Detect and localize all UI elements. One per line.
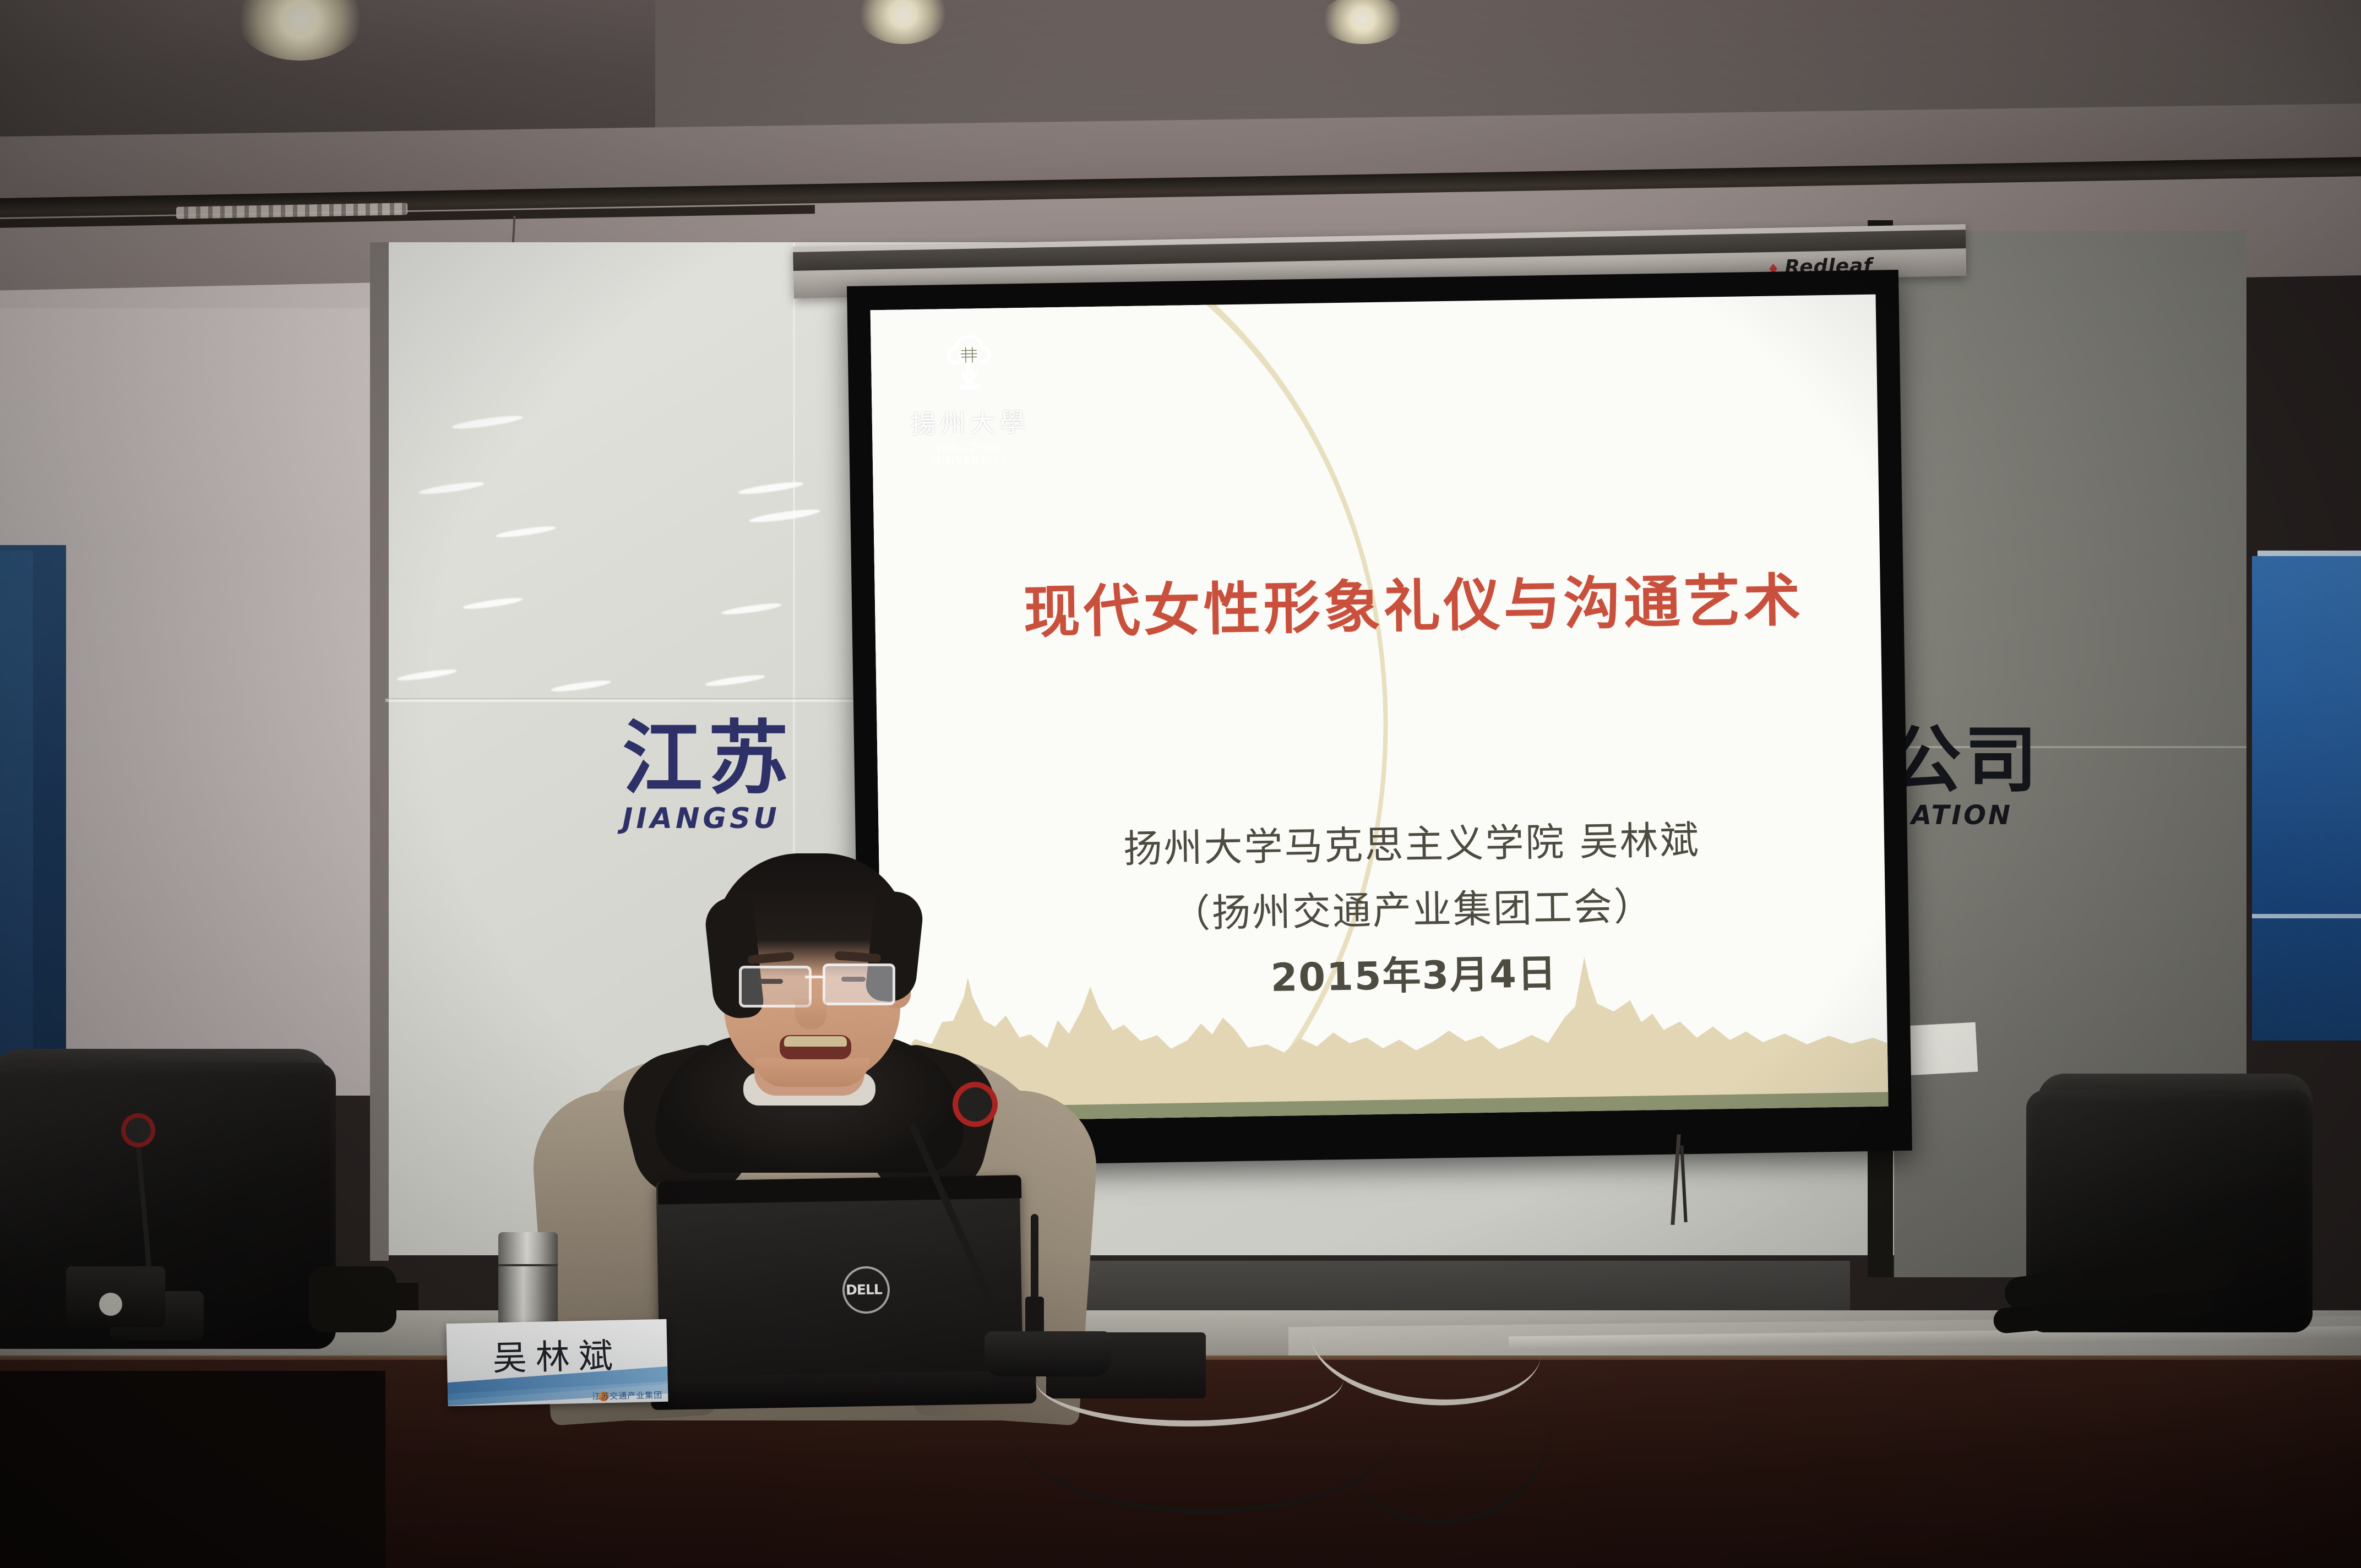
wall-logo-jiangsu: 江苏 JIANGSU	[622, 718, 794, 835]
thermos-lid	[498, 1232, 558, 1265]
slide-logo-cn: 揚州大學	[898, 402, 1042, 440]
person-teeth	[784, 1036, 847, 1047]
laptop	[656, 1175, 1024, 1396]
microphone-left-head-icon	[126, 1118, 151, 1143]
wall-logo-corporation: 公司 RATION	[1889, 724, 2041, 831]
nameplate-corp-label: 江苏交通产业集团	[592, 1389, 662, 1402]
person-chin	[754, 1058, 870, 1087]
wall-divider-left	[370, 242, 389, 1261]
wall-panel-blue-right-seam	[2252, 914, 2361, 918]
thermos-seam	[498, 1264, 558, 1266]
wall-panel-blue-right	[2252, 556, 2361, 1041]
tree-emblem-icon	[933, 330, 1005, 402]
glasses-lens-right	[823, 963, 895, 1005]
nameplate-name: 吴林斌	[447, 1327, 668, 1381]
microphone-head-icon	[958, 1087, 992, 1121]
chair-left-armrest	[308, 1266, 396, 1332]
wall-logo-corporation-cn: 公司	[1889, 724, 2041, 797]
slide-subtitle-org: （扬州交通产业集团工会）	[940, 872, 1885, 943]
person-nose	[795, 998, 827, 1030]
slide-title: 现代女性形象礼仪与沟通艺术	[874, 553, 1881, 651]
nameplate: 吴林斌 江苏交通产业集团	[446, 1319, 668, 1406]
glasses-bridge	[805, 976, 825, 978]
slide-university-logo: 揚州大學 YANGZHOU UNIVERSITY	[897, 329, 1042, 467]
wall-logo-jiangsu-en: JIANGSU	[622, 802, 794, 835]
wall-logo-corporation-en: RATION	[1889, 800, 2041, 831]
microphone-button-icon[interactable]	[99, 1293, 122, 1316]
wall-paper-note	[1904, 1022, 1978, 1076]
laptop-base	[651, 1370, 1037, 1410]
conference-room-photo: 江苏 JIANGSU 公司 RATION Redleaf	[0, 0, 2361, 1568]
slide-logo-en: YANGZHOU UNIVERSITY	[899, 441, 1042, 467]
foreground-shadow-left	[0, 1371, 385, 1568]
wall-logo-jiangsu-cn: 江苏	[622, 718, 794, 799]
